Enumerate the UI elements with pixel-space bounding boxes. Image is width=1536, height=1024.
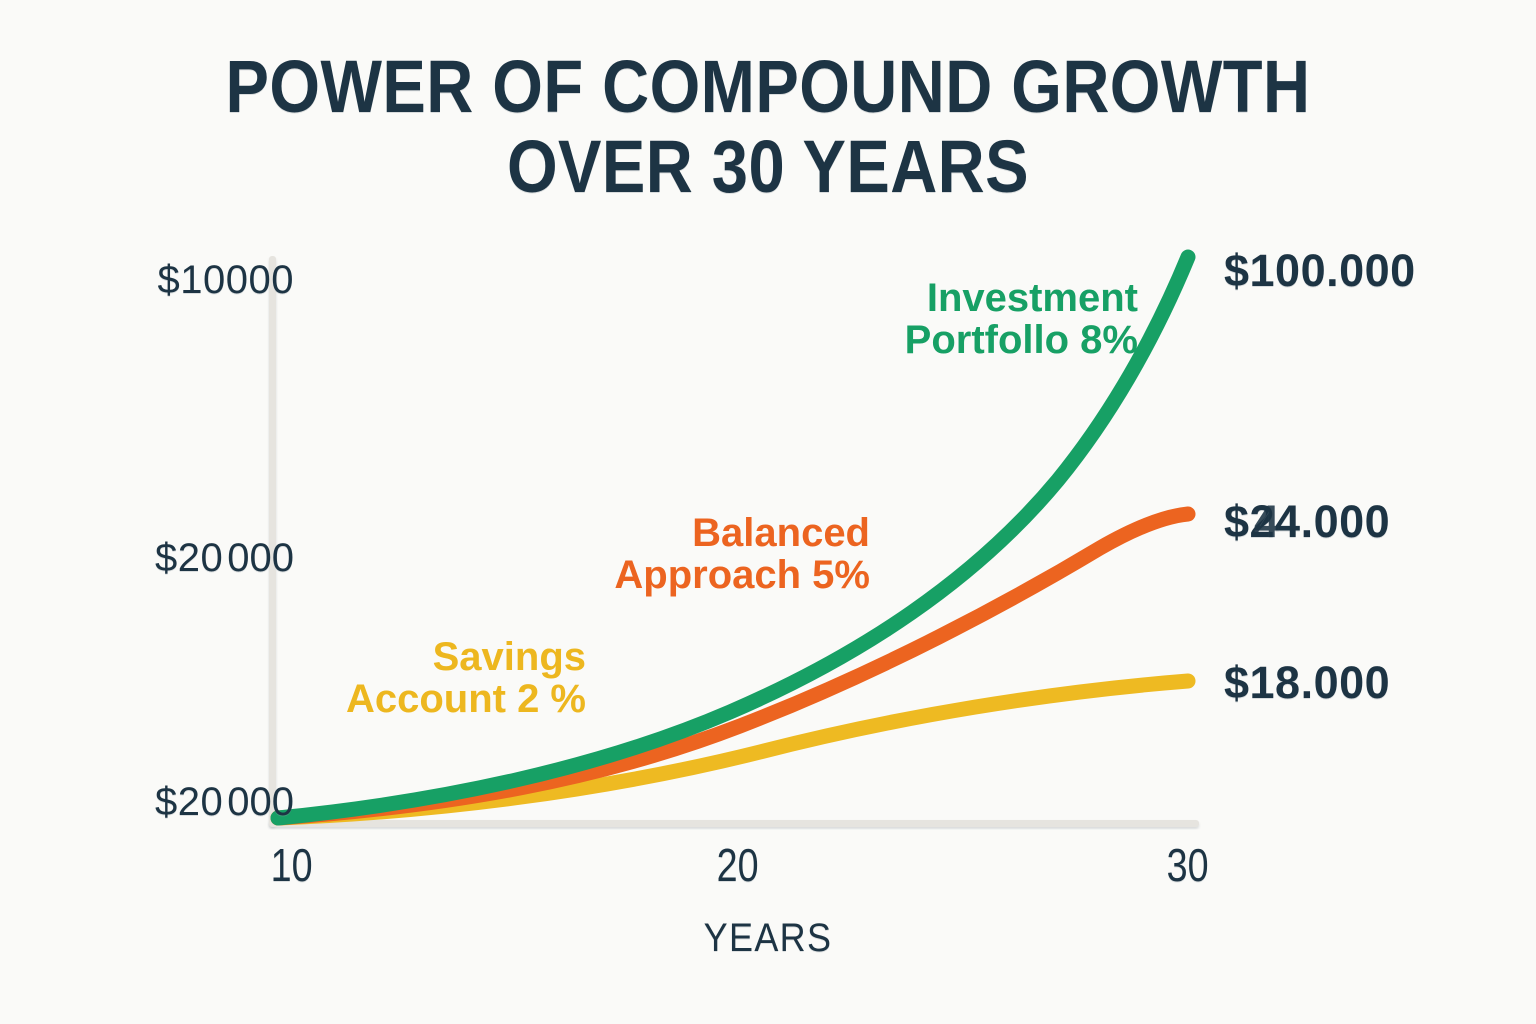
- series-label-investment-line2: Portfollo 8%: [838, 319, 1138, 361]
- y-axis-tick-bottom: $20000: [155, 780, 294, 825]
- title-line-2: OVER 30 YEARS: [92, 132, 1444, 202]
- compound-growth-infographic: POWER OF COMPOUND GROWTH OVER 30 YEARS: [0, 0, 1536, 1024]
- series-label-investment-line1: Investment: [927, 276, 1138, 320]
- series-label-balanced-approach: Balanced Approach 5%: [590, 512, 870, 597]
- end-value-savings-account: $18.000: [1224, 657, 1390, 709]
- series-label-savings-line2: Account 2 %: [318, 678, 586, 720]
- y-axis-tick-bottom-suffix: 000: [223, 780, 294, 824]
- x-axis-title: YEARS: [77, 916, 1459, 961]
- series-label-investment-portfolio: Investment Portfollo 8%: [838, 277, 1138, 362]
- end-value-balanced-text: $24.000: [1224, 496, 1390, 547]
- series-label-balanced-line1: Balanced: [692, 511, 870, 555]
- end-value-investment-portfolio: $100.000: [1224, 245, 1416, 297]
- x-axis-tick-10: 10: [271, 838, 313, 892]
- end-value-balanced-approach: $24.000 4: [1224, 496, 1390, 548]
- y-axis-tick-middle: $20000: [155, 536, 294, 581]
- series-label-savings-account: Savings Account 2 %: [318, 636, 586, 721]
- page-title: POWER OF COMPOUND GROWTH OVER 30 YEARS: [92, 52, 1444, 203]
- x-axis-line: [269, 820, 1199, 827]
- title-line-1: POWER OF COMPOUND GROWTH: [92, 52, 1444, 122]
- end-value-balanced-ghost-glyph: 4: [1254, 496, 1280, 548]
- x-axis-tick-20: 20: [717, 838, 759, 892]
- y-axis-tick-middle-suffix: 000: [223, 536, 294, 580]
- series-label-balanced-line2: Approach 5%: [590, 554, 870, 596]
- x-axis-tick-30: 30: [1167, 838, 1209, 892]
- y-axis-tick-bottom-prefix: $20: [155, 780, 223, 824]
- series-label-savings-line1: Savings: [433, 635, 586, 679]
- y-axis-tick-top: $10000: [158, 258, 294, 303]
- y-axis-tick-middle-prefix: $20: [155, 536, 223, 580]
